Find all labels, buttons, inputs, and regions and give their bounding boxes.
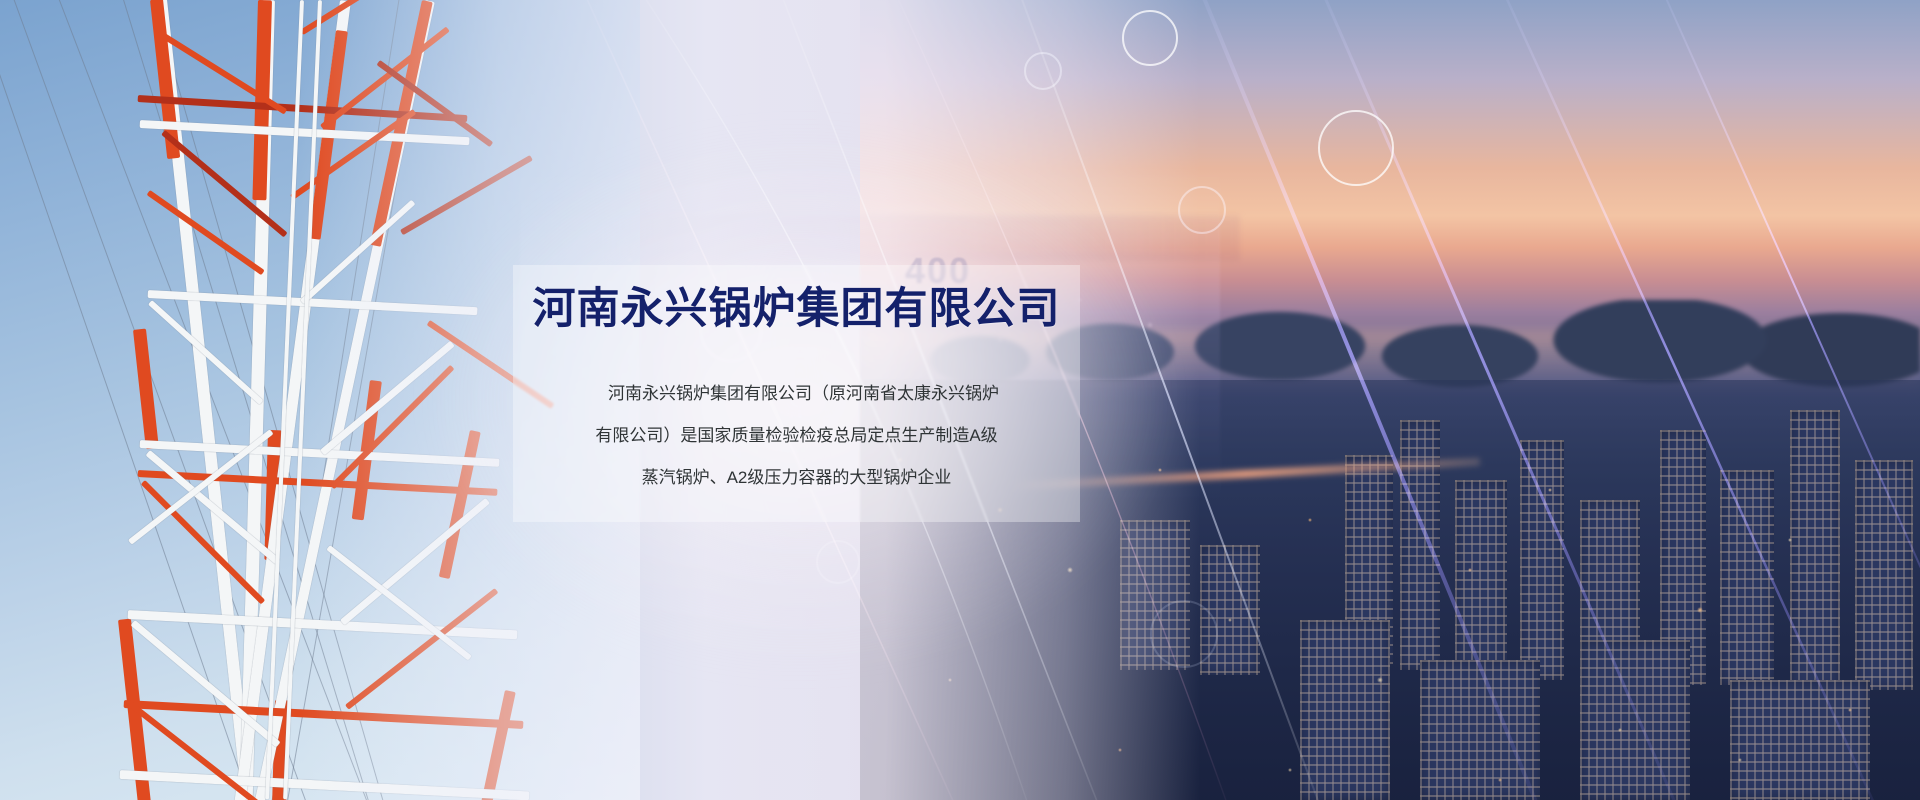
company-description: 河南永兴锅炉集团有限公司（原河南省太康永兴锅炉 有限公司）是国家质量检验检疫总局… [551,373,1043,499]
description-line-3: 蒸汽锅炉、A2级压力容器的大型锅炉企业 [551,457,1043,499]
hero-text-panel: 河南永兴锅炉集团有限公司 河南永兴锅炉集团有限公司（原河南省太康永兴锅炉 有限公… [513,265,1080,522]
description-line-2: 有限公司）是国家质量检验检疫总局定点生产制造A级 [551,415,1043,457]
hero-banner: 400 [0,0,1920,800]
company-title: 河南永兴锅炉集团有限公司 [533,288,1061,331]
description-line-1: 河南永兴锅炉集团有限公司（原河南省太康永兴锅炉 [551,373,1043,415]
glow-ring [816,540,860,584]
